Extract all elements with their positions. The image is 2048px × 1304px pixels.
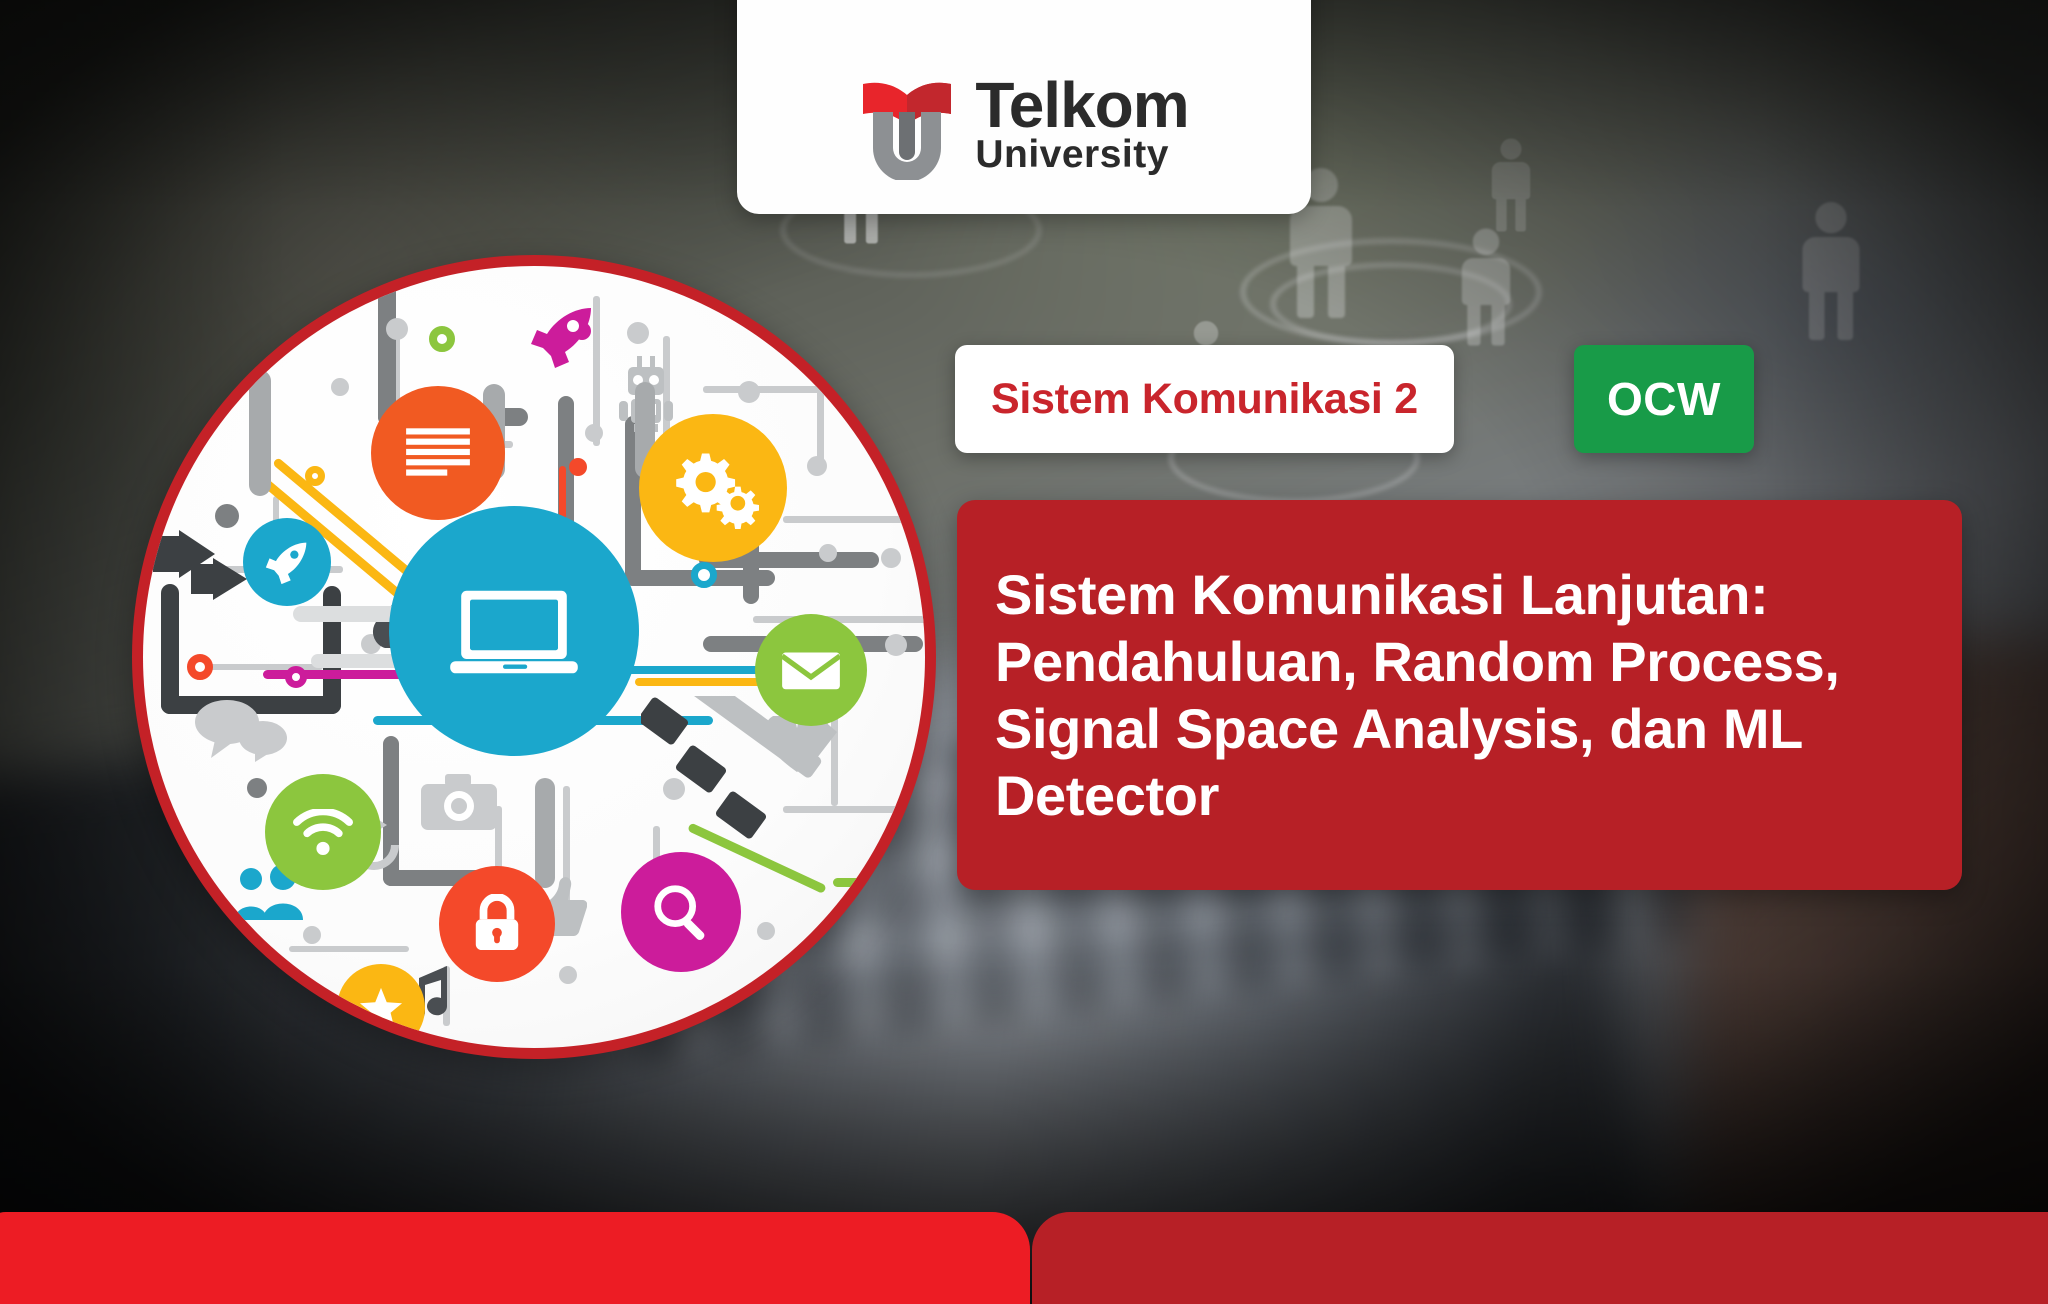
logo-wordmark-telkom: Telkom (975, 76, 1188, 135)
footer-bar-right (1032, 1212, 2048, 1304)
laptop-icon (389, 506, 639, 756)
document-icon (371, 386, 505, 520)
chat-bubbles-icon (193, 696, 289, 762)
lesson-title-card: Sistem Komunikasi Lanjutan: Pendahuluan,… (957, 500, 1962, 890)
lock-icon (439, 866, 555, 982)
ocw-badge-text: OCW (1607, 372, 1721, 426)
arrow-icon (191, 558, 249, 600)
course-name-text: Sistem Komunikasi 2 (991, 375, 1418, 424)
camera-icon (421, 774, 497, 830)
technology-circle-graphic (132, 255, 936, 1059)
rocket-badge-icon (243, 518, 331, 606)
wifi-icon (265, 774, 381, 890)
telkom-university-logo-mark (859, 68, 955, 180)
envelope-icon (755, 614, 867, 726)
magnifier-icon (621, 852, 741, 972)
rocket-icon (529, 306, 595, 370)
trace-green (833, 878, 913, 887)
course-name-label: Sistem Komunikasi 2 (955, 345, 1454, 453)
slide-canvas: Telkom University Sistem Komunikasi 2 OC… (0, 0, 2048, 1304)
footer-bar-left (0, 1212, 1030, 1304)
ocw-badge: OCW (1574, 345, 1754, 453)
lesson-title-text: Sistem Komunikasi Lanjutan: Pendahuluan,… (995, 561, 1924, 830)
gears-icon (639, 414, 787, 562)
telkom-university-logo-card: Telkom University (737, 0, 1311, 214)
star-icon (337, 964, 425, 1048)
logo-wordmark-university: University (975, 137, 1188, 173)
